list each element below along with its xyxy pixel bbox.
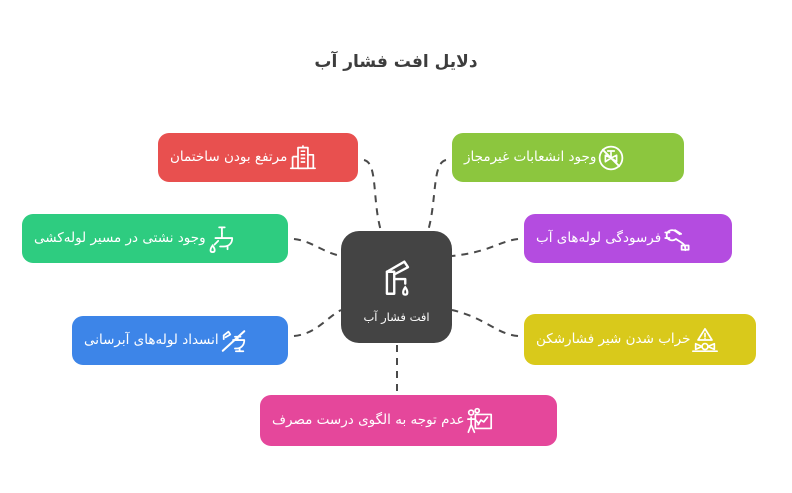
page-title: دلایل افت فشار آب [0,52,792,72]
branch-node-tall-building[interactable]: مرتفع بودن ساختمان [158,133,358,182]
warning-valve-icon [690,325,720,355]
branch-node-blocked-pipes[interactable]: انسداد لوله‌های آبرسانی [72,316,288,365]
building-icon [287,143,317,173]
branch-node-broken-valve[interactable]: خراب شدن شیر فشارشکن [524,314,756,365]
no-valve-icon [596,143,626,173]
connector-illegal-taps [428,160,446,231]
branch-label-illegal-taps: وجود انشعابات غیرمجاز [464,151,596,165]
branch-label-leak-pipes: وجود نشتی در مسیر لوله‌کشی [34,232,206,246]
branch-node-leak-pipes[interactable]: وجود نشتی در مسیر لوله‌کشی [22,214,288,263]
diagram-canvas: دلایل افت فشار آب افت فشار آب مرتفع بودن… [0,0,792,493]
branch-node-worn-pipes[interactable]: فرسودگی لوله‌های آب [524,214,732,263]
connector-leak-pipes [294,239,341,256]
branch-node-usage-pattern[interactable]: عدم توجه به الگوی درست مصرف [260,395,557,446]
presentation-person-icon [465,406,495,436]
branch-label-tall-building: مرتفع بودن ساختمان [170,151,287,165]
center-node[interactable]: افت فشار آب [341,231,452,343]
branch-label-worn-pipes: فرسودگی لوله‌های آب [536,232,661,246]
leaking-faucet-icon [206,224,236,254]
branch-node-illegal-taps[interactable]: وجود انشعابات غیرمجاز [452,133,684,182]
connector-tall-building [364,160,381,231]
faucet-drip-icon [374,256,420,304]
connector-worn-pipes [452,239,518,256]
pipe-icon [661,224,691,254]
connector-broken-valve [452,310,518,336]
connector-blocked-pipes [294,310,341,336]
branch-label-blocked-pipes: انسداد لوله‌های آبرسانی [84,334,219,348]
no-faucet-icon [219,326,249,356]
branch-label-broken-valve: خراب شدن شیر فشارشکن [536,333,690,347]
center-node-label: افت فشار آب [363,310,429,324]
branch-label-usage-pattern: عدم توجه به الگوی درست مصرف [272,414,465,428]
